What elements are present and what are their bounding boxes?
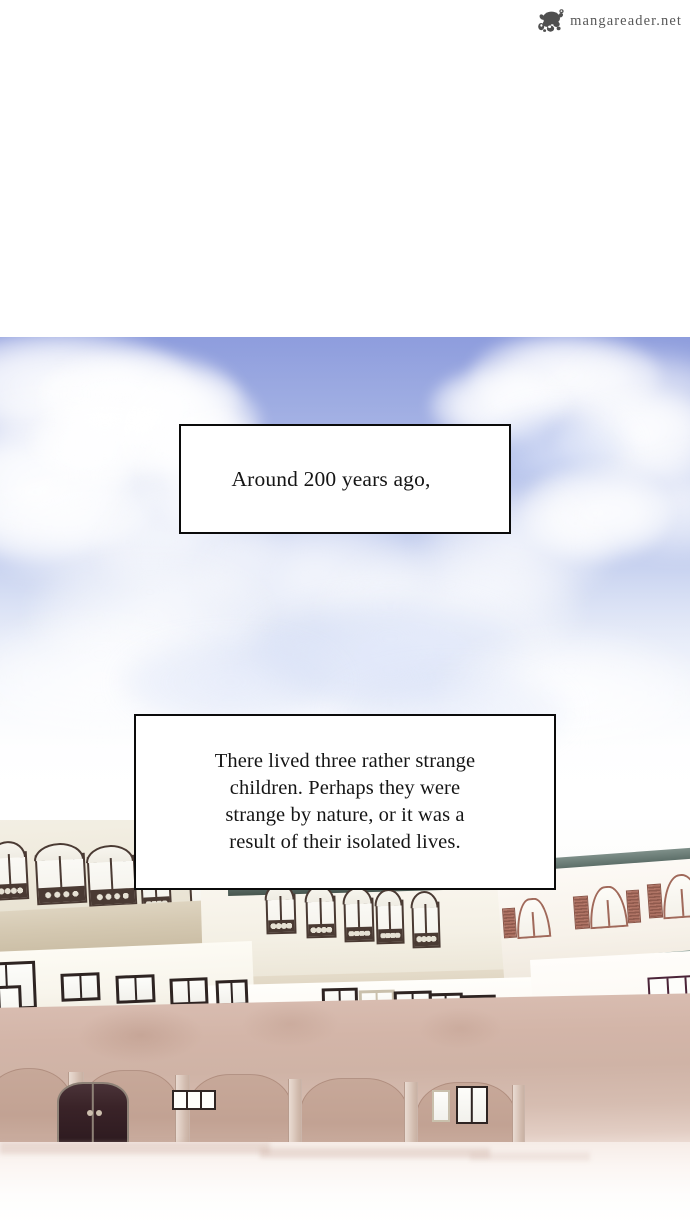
window-lattice: [308, 923, 334, 936]
rect-window: [172, 1090, 216, 1110]
caption-text: There lived three rather strange childre…: [191, 748, 499, 857]
ink-splatter-icon: [537, 8, 567, 34]
window-shutter: [502, 908, 517, 939]
window-shutter: [573, 896, 590, 930]
top-white-gutter: [0, 0, 690, 337]
window-lattice: [414, 932, 438, 946]
rect-window: [456, 1086, 488, 1124]
window-lattice: [38, 886, 85, 903]
gothic-window: [305, 896, 336, 939]
window-lattice: [90, 888, 135, 905]
window-lattice: [0, 883, 27, 899]
rect-window: [60, 972, 100, 1002]
gothic-window: [411, 902, 440, 949]
rect-window: [169, 977, 208, 1006]
caption-text: Around 200 years ago,: [232, 466, 431, 493]
gothic-window: [35, 853, 88, 906]
webtoon-page: mangareader.net Around 200 years ago, Th…: [0, 0, 690, 1224]
gothic-window: [265, 894, 296, 935]
caption-line: children. Perhaps they were: [230, 777, 460, 799]
gothic-window: [343, 898, 374, 943]
door-knob: [96, 1110, 102, 1116]
window-shutter: [626, 890, 641, 924]
ground-shadow: [260, 1148, 490, 1158]
window-lattice: [346, 927, 372, 941]
entrance-door[interactable]: [57, 1082, 129, 1144]
ground-shadow: [0, 1142, 270, 1154]
caption-box: There lived three rather strange childre…: [134, 714, 556, 890]
window-mullion: [187, 981, 190, 1002]
caption-box: Around 200 years ago,: [179, 424, 511, 534]
window-pane: [174, 1092, 188, 1108]
window-pane: [202, 1092, 214, 1108]
window-mullion: [532, 911, 536, 936]
ground-shadow: [470, 1152, 590, 1161]
caption-line: result of their isolated lives.: [229, 831, 460, 853]
caption-line: There lived three rather strange: [215, 750, 475, 772]
site-watermark: mangareader.net: [537, 8, 682, 34]
caption-line: strange by nature, or it was a: [225, 804, 464, 826]
rect-window: [432, 1090, 450, 1122]
window-lattice: [268, 920, 294, 932]
gothic-window: [375, 900, 404, 945]
window-mullion: [230, 983, 233, 1003]
window-lattice: [378, 929, 402, 942]
gothic-window: [87, 855, 138, 907]
window-mullion: [134, 978, 137, 1000]
window-mullion: [681, 889, 685, 916]
window-mullion: [79, 976, 82, 998]
watermark-text: mangareader.net: [570, 13, 682, 30]
gothic-window: [0, 851, 29, 901]
door-knob: [87, 1110, 93, 1116]
window-shutter: [647, 884, 663, 919]
window-mullion: [607, 900, 611, 926]
window-pane: [188, 1092, 202, 1108]
rect-window: [115, 974, 155, 1004]
window-mullion: [471, 1088, 473, 1122]
